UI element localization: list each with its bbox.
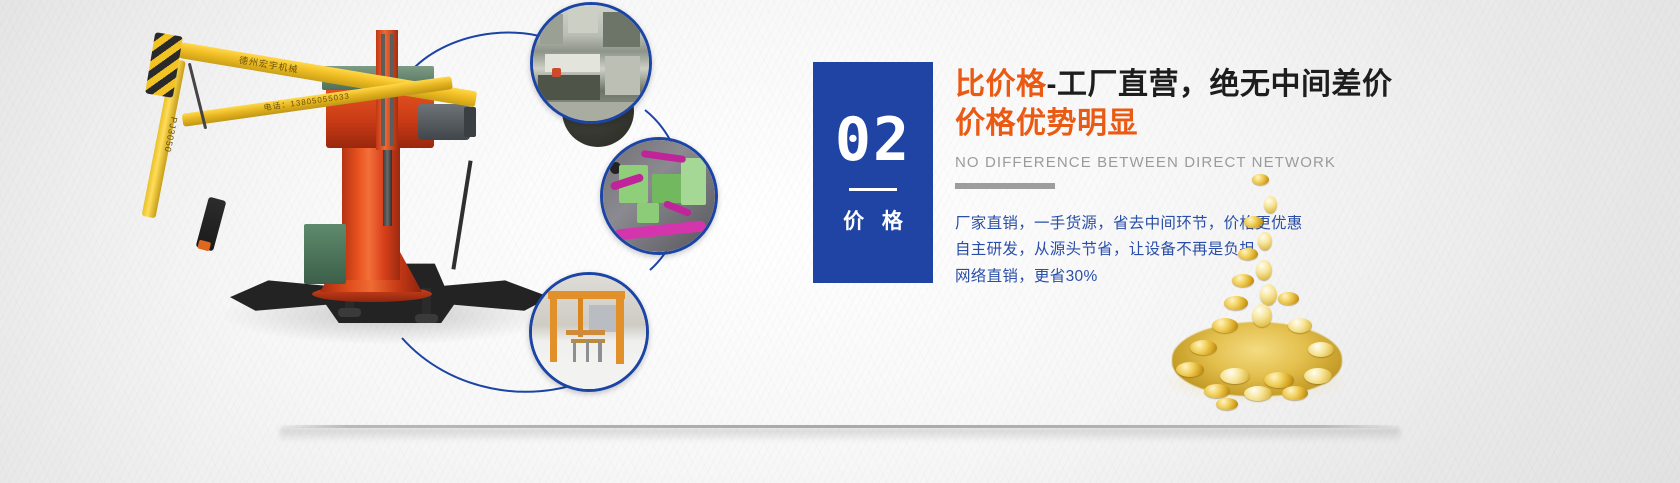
product-illustration: 德州宏宇机械 电话：13805055033 PJ3050 — [150, 0, 770, 420]
subtitle-english: NO DIFFERENCE BETWEEN DIRECT NETWORK — [955, 154, 1575, 171]
coin — [1238, 248, 1258, 260]
pneumatic-mechanism-photo — [600, 137, 718, 255]
coin — [1304, 368, 1332, 384]
motor — [418, 104, 470, 140]
badge-divider — [849, 188, 897, 191]
coin — [1282, 386, 1308, 400]
badge-number: 02 — [835, 110, 911, 170]
coin — [1176, 362, 1204, 377]
coin — [1190, 340, 1217, 355]
bottom-divider — [280, 425, 1400, 428]
gold-coins-cascade — [1160, 172, 1350, 404]
coin — [1264, 196, 1277, 213]
step-number-badge: 02 价 格 — [813, 62, 933, 283]
hydraulic-rod — [383, 148, 392, 226]
coin — [1252, 304, 1272, 327]
promo-banner: 德州宏宇机械 电话：13805055033 PJ3050 — [0, 0, 1680, 483]
workshop-gantry-photo — [529, 272, 649, 392]
headline-rest: -工厂直营，绝无中间差价 — [1047, 68, 1393, 101]
coin — [1244, 216, 1263, 228]
coin — [1308, 342, 1334, 357]
headline-line-2: 价格优势明显 — [955, 105, 1575, 143]
headline-highlight: 比价格 — [955, 68, 1047, 101]
boom-brand-text: 德州宏宇机械 — [238, 53, 299, 76]
coin-pile — [1172, 322, 1342, 396]
coin — [1278, 292, 1299, 305]
coin — [1258, 232, 1272, 250]
photo-content — [533, 5, 649, 121]
badge-label: 价 格 — [837, 205, 909, 235]
machine-shop-photo — [530, 2, 652, 124]
coin — [1244, 386, 1272, 401]
control-box — [304, 224, 346, 284]
divider-shadow — [280, 428, 1400, 442]
coin — [1224, 296, 1248, 310]
coin — [1288, 318, 1312, 333]
photo-content — [603, 140, 715, 252]
gripper-handle — [196, 197, 227, 252]
model-text: PJ3050 — [162, 116, 179, 154]
coin — [1232, 274, 1254, 287]
coin — [1204, 384, 1230, 398]
photo-content — [532, 275, 646, 389]
support-strut — [451, 160, 472, 269]
coin — [1256, 260, 1272, 280]
coin — [1212, 318, 1238, 333]
coin — [1252, 174, 1269, 185]
coin — [1216, 398, 1238, 410]
headline-line-1: 比价格-工厂直营，绝无中间差价 — [955, 66, 1575, 104]
coin — [1260, 284, 1277, 305]
headline-rule — [955, 183, 1055, 189]
coin — [1220, 368, 1250, 384]
